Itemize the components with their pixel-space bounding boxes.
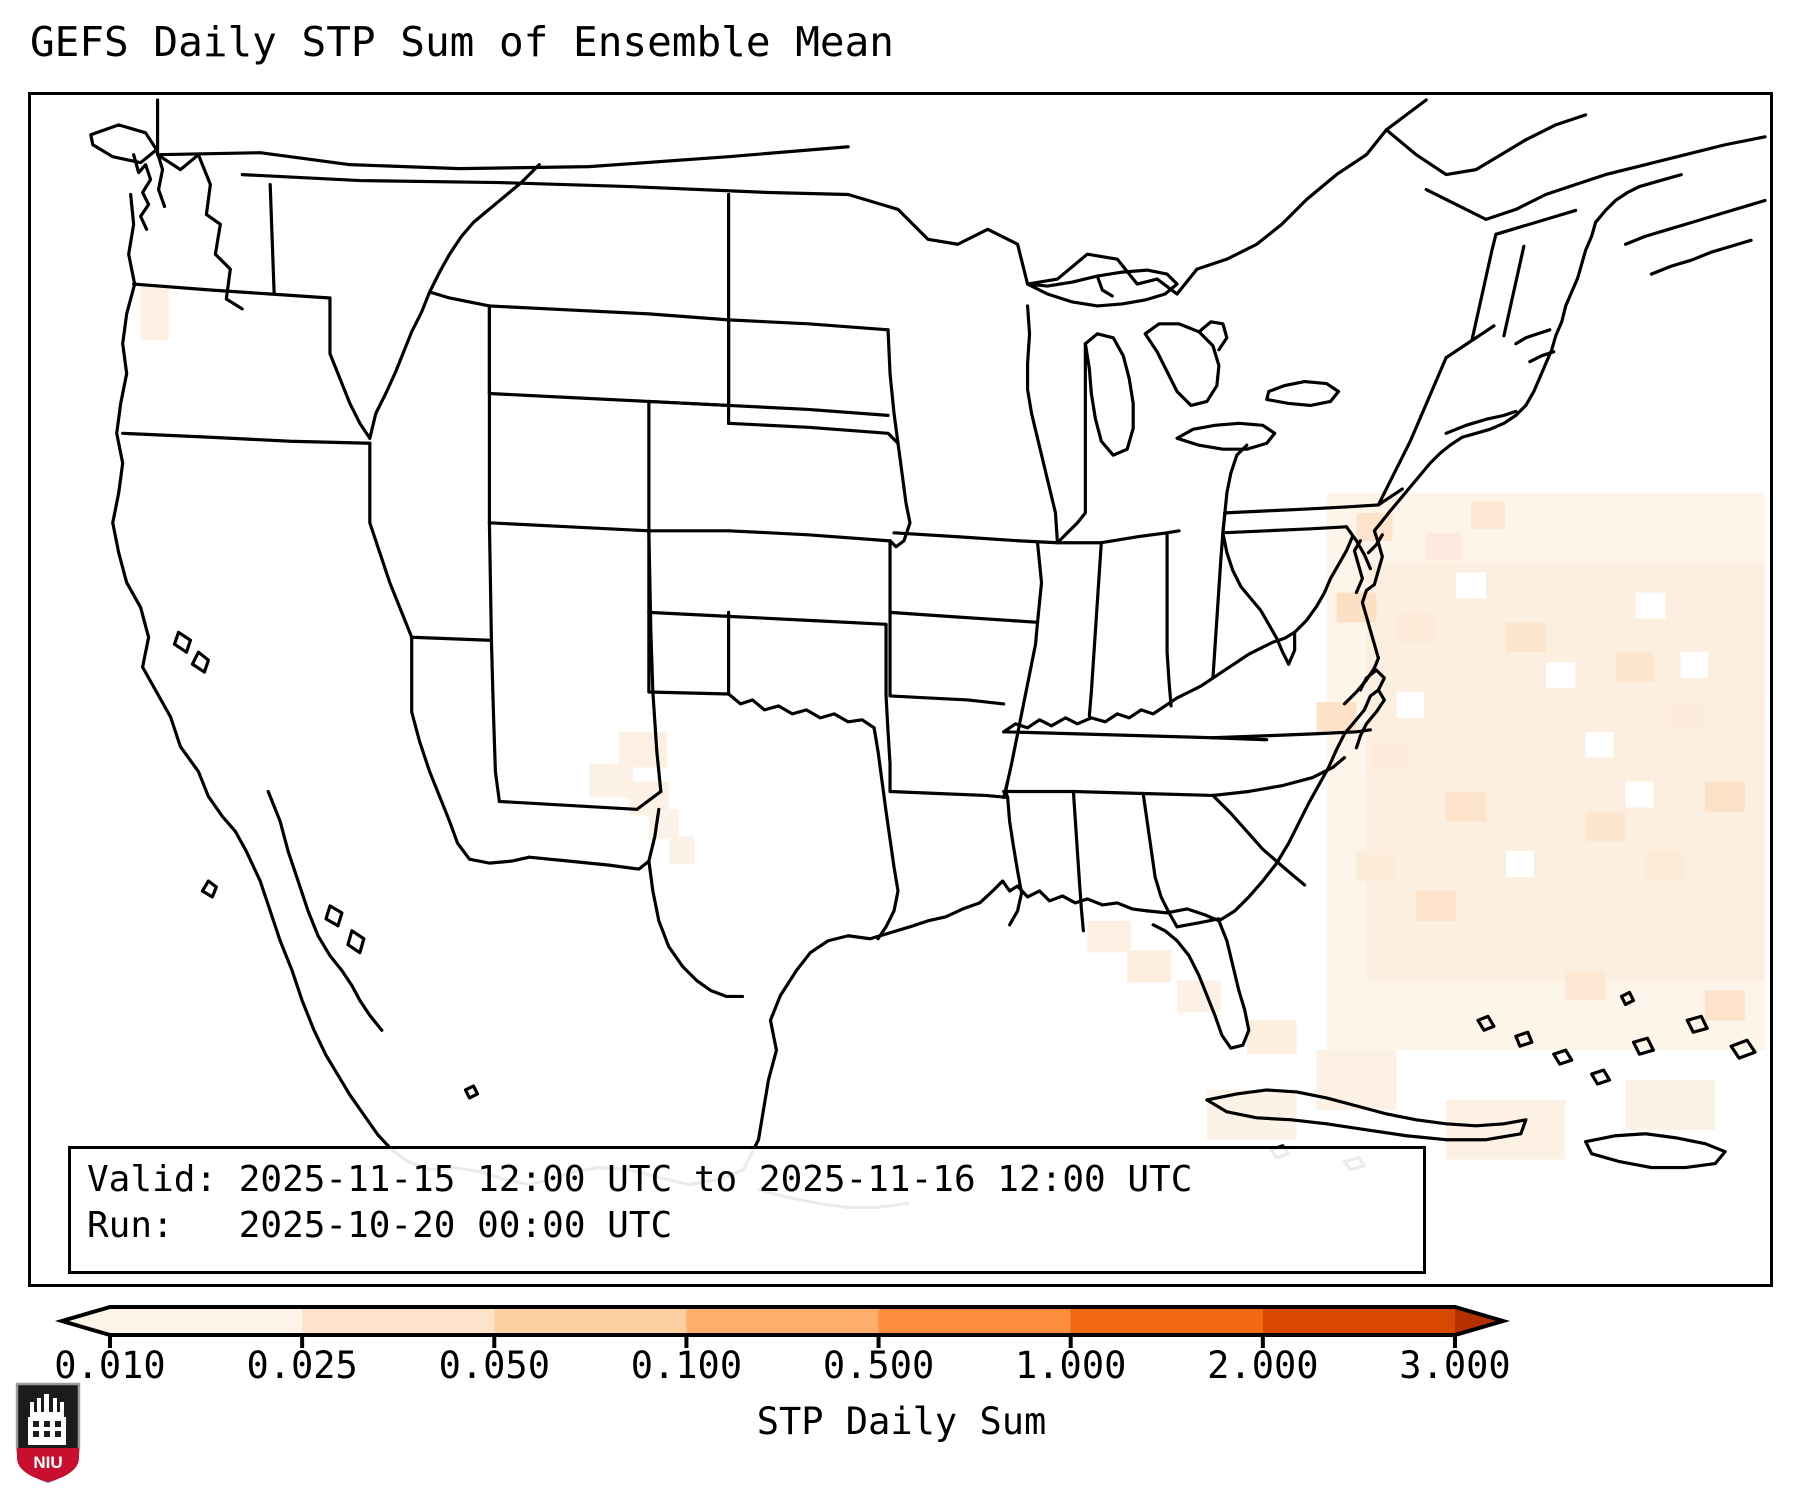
colorbar-tick-label: 0.025 xyxy=(246,1344,357,1387)
run-time-text: Run: 2025-10-20 00:00 UTC xyxy=(87,1205,672,1246)
colorbar-extend-max xyxy=(1455,1307,1503,1335)
info-box: Valid: 2025-11-15 12:00 UTC to 2025-11-1… xyxy=(68,1146,1426,1274)
niu-banner-text: NIU xyxy=(33,1453,62,1472)
colorbar-tick-label: 2.000 xyxy=(1207,1344,1318,1387)
colorbar-tick-label: 1.000 xyxy=(1015,1344,1126,1387)
colorbar-band xyxy=(686,1307,879,1335)
colorbar-tick-label: 0.100 xyxy=(631,1344,742,1387)
colorbar-tick-label: 3.000 xyxy=(1399,1344,1510,1387)
colorbar-band xyxy=(110,1307,303,1335)
colorbar-tick-label: 0.500 xyxy=(823,1344,934,1387)
colorbar-band xyxy=(302,1307,495,1335)
colorbar-band xyxy=(879,1307,1072,1335)
colorbar-extend-min xyxy=(62,1307,110,1335)
colorbar-band xyxy=(1263,1307,1456,1335)
colorbar-axis-label: STP Daily Sum xyxy=(0,1400,1803,1443)
colorbar-band xyxy=(494,1307,687,1335)
valid-time-text: Valid: 2025-11-15 12:00 UTC to 2025-11-1… xyxy=(87,1159,1192,1200)
page-title: GEFS Daily STP Sum of Ensemble Mean xyxy=(30,18,894,66)
map-frame xyxy=(28,92,1773,1287)
colorbar-band xyxy=(1071,1307,1264,1335)
colorbar-tick-label: 0.010 xyxy=(54,1344,165,1387)
colorbar-tick-label: 0.050 xyxy=(439,1344,550,1387)
map-geography xyxy=(31,95,1770,1284)
colorbar: 0.0100.0250.0500.1000.5001.0002.0003.000… xyxy=(0,1300,1803,1500)
niu-logo: NIU xyxy=(14,1382,82,1484)
